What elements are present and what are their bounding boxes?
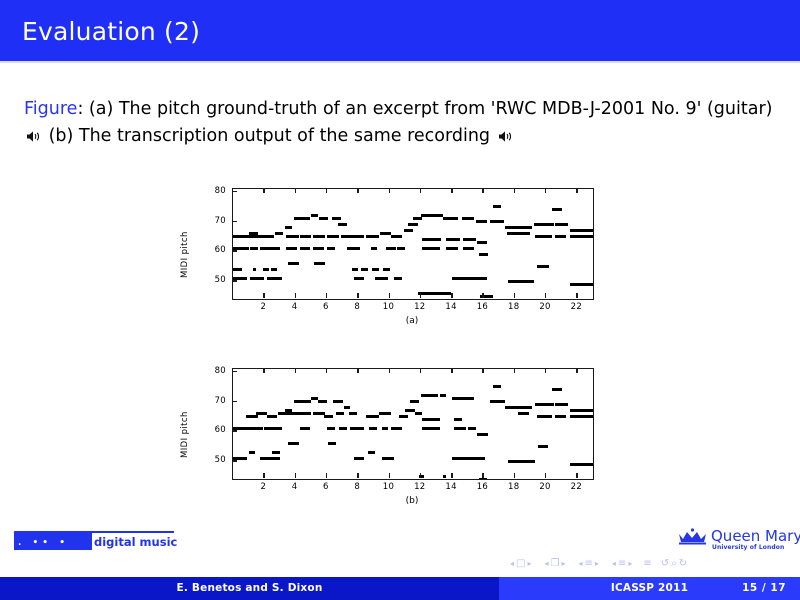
x-tick-mark-top <box>514 188 515 193</box>
note-bar <box>466 397 474 400</box>
y-tick-label: 60 <box>204 425 226 435</box>
note-bar <box>233 268 242 271</box>
note-bar <box>524 460 535 463</box>
note-bar <box>386 247 395 250</box>
footer-page-number: 15 / 17 <box>742 582 786 594</box>
note-bar <box>349 412 357 415</box>
x-tick-mark-top <box>545 188 546 193</box>
queen-mary-logo: Queen Mary University of London <box>675 527 790 555</box>
note-bar <box>570 235 593 238</box>
x-tick-label: 12 <box>410 482 430 492</box>
x-tick-label: 2 <box>253 302 273 312</box>
x-tick-label: 22 <box>566 482 586 492</box>
crown-icon <box>677 528 709 549</box>
x-tick-mark-top <box>326 368 327 373</box>
x-tick-label: 8 <box>347 302 367 312</box>
note-bar <box>383 268 389 271</box>
x-tick-mark-top <box>295 368 296 373</box>
note-bar <box>443 217 459 220</box>
x-tick-label: 18 <box>504 302 524 312</box>
note-bar <box>352 268 358 271</box>
note-bar <box>369 427 377 430</box>
nav-group-back-find-forward[interactable]: ↺ ⌕ ↻ <box>661 559 687 569</box>
x-tick-mark <box>545 473 546 478</box>
frame-stack-icon[interactable]: ❐ <box>551 559 560 569</box>
note-bar <box>371 247 377 250</box>
note-bar <box>508 280 533 283</box>
note-bar <box>354 457 365 460</box>
x-tick-mark-top <box>576 368 577 373</box>
note-bar <box>286 235 299 238</box>
x-tick-mark-top <box>357 368 358 373</box>
x-tick-mark-top <box>451 368 452 373</box>
note-bar <box>350 427 364 430</box>
note-bar <box>250 277 264 280</box>
note-bar <box>490 220 504 223</box>
x-tick-mark-top <box>545 368 546 373</box>
note-bar <box>313 235 326 238</box>
x-tick-mark-top <box>357 188 358 193</box>
note-bar <box>555 235 566 238</box>
x-tick-mark <box>576 293 577 298</box>
x-tick-mark <box>263 293 264 298</box>
section-lines-icon[interactable]: ≡ <box>618 559 626 569</box>
chevron-left-icon[interactable]: ◂ <box>610 560 618 568</box>
note-bar <box>267 277 281 280</box>
x-tick-label: 14 <box>441 302 461 312</box>
note-bar <box>508 460 524 463</box>
note-bar <box>493 205 501 208</box>
x-tick-mark <box>326 473 327 478</box>
x-tick-label: 16 <box>472 482 492 492</box>
note-bar <box>421 214 443 217</box>
y-tick-label: 70 <box>204 216 226 226</box>
caption-part-a: (a) The pitch ground-truth of an excerpt… <box>83 99 772 119</box>
note-bar <box>288 262 299 265</box>
x-tick-mark-top <box>482 368 483 373</box>
note-bar <box>570 283 593 286</box>
back-arrow-icon[interactable]: ↺ <box>661 559 669 569</box>
note-bar <box>476 220 487 223</box>
note-bar <box>263 268 269 271</box>
piano-roll-panel-b: MIDI pitch 50607080 246810121416182022 (… <box>180 360 630 525</box>
x-tick-mark <box>295 293 296 298</box>
note-bar <box>264 427 281 430</box>
x-tick-mark <box>482 293 483 298</box>
note-bar <box>422 247 439 250</box>
y-tick-label: 50 <box>204 275 226 285</box>
x-tick-mark <box>389 293 390 298</box>
note-bar <box>347 247 360 250</box>
chevron-left-icon[interactable]: ◂ <box>508 560 516 568</box>
y-tick-label: 70 <box>204 396 226 406</box>
nav-group-slide[interactable]: ◂ □ ▸ <box>508 559 533 569</box>
note-bar <box>256 412 267 415</box>
x-tick-mark-top <box>326 188 327 193</box>
figure-block: MIDI pitch 50607080 246810121416182022 (… <box>180 180 630 525</box>
x-tick-mark <box>263 473 264 478</box>
note-bar <box>507 232 530 235</box>
y-tick-mark <box>232 250 237 251</box>
y-axis-label-a: MIDI pitch <box>180 208 194 278</box>
note-bar <box>324 415 333 418</box>
footer-authors: E. Benetos and S. Dixon <box>0 582 499 594</box>
note-bar <box>341 235 349 238</box>
note-bar <box>422 418 439 421</box>
note-bar <box>332 217 341 220</box>
x-tick-mark <box>357 473 358 478</box>
note-bar <box>327 427 335 430</box>
note-bar <box>418 292 451 295</box>
note-bar <box>233 235 274 238</box>
note-bar <box>366 415 379 418</box>
x-tick-mark-top <box>576 188 577 193</box>
footer-authors-cell: E. Benetos and S. Dixon <box>0 577 499 600</box>
search-icon[interactable]: ⌕ <box>671 559 677 569</box>
subcaption-b: (b) <box>232 496 592 506</box>
y-tick-mark <box>232 280 237 281</box>
chevron-right-icon[interactable]: ▸ <box>626 560 634 568</box>
note-bar <box>404 229 413 232</box>
note-bar <box>490 400 506 403</box>
note-bar <box>368 451 376 454</box>
note-bar <box>299 412 312 415</box>
note-bar <box>275 232 283 235</box>
x-tick-label: 4 <box>285 482 305 492</box>
y-tick-label: 60 <box>204 245 226 255</box>
note-bar <box>463 247 474 250</box>
x-tick-label: 10 <box>379 302 399 312</box>
beamer-navigation-symbols[interactable]: ◂ □ ▸ ◂ ❐ ▸ ◂ ≡ ▸ ◂ ≡ ▸ ≡ ↺ ⌕ ↻ <box>508 557 696 571</box>
x-tick-label: 4 <box>285 302 305 312</box>
note-bar <box>440 394 446 397</box>
note-bar <box>300 235 311 238</box>
chevron-right-icon[interactable]: ▸ <box>593 560 601 568</box>
x-tick-mark-top <box>389 188 390 193</box>
slide-square-icon[interactable]: □ <box>516 559 525 569</box>
note-bar <box>339 427 347 430</box>
note-bar <box>333 400 342 403</box>
note-bar <box>518 412 529 415</box>
note-bar <box>300 247 309 250</box>
x-tick-label: 22 <box>566 302 586 312</box>
note-bar <box>555 223 568 226</box>
speaker-icon[interactable] <box>498 130 513 143</box>
note-bar <box>382 457 395 460</box>
note-bar <box>300 427 309 430</box>
note-bar <box>454 418 462 421</box>
note-bar <box>338 223 347 226</box>
note-bar <box>505 226 532 229</box>
note-bar <box>391 235 402 238</box>
note-bar <box>462 217 475 220</box>
note-bar <box>258 427 263 430</box>
x-tick-label: 8 <box>347 482 367 492</box>
y-tick-label: 50 <box>204 455 226 465</box>
note-bar <box>319 217 328 220</box>
note-bar <box>537 415 553 418</box>
nav-group-section[interactable]: ◂ ≡ ▸ <box>610 559 634 569</box>
plot-area-a <box>232 188 594 300</box>
note-bar <box>267 415 276 418</box>
subsection-lines-icon[interactable]: ≡ <box>585 559 593 569</box>
x-tick-label: 20 <box>535 302 555 312</box>
note-bar <box>446 238 460 241</box>
footer-venue-cell: ICASSP 2011 15 / 17 <box>499 577 800 600</box>
note-bar <box>399 415 408 418</box>
x-tick-mark <box>576 473 577 478</box>
c4dm-logo-text: digital music <box>94 535 177 549</box>
note-bar <box>311 214 317 217</box>
note-bar <box>271 268 277 271</box>
x-tick-label: 6 <box>316 302 336 312</box>
note-bar <box>313 247 324 250</box>
note-bar <box>328 442 336 445</box>
chevron-left-icon[interactable]: ◂ <box>542 560 550 568</box>
x-tick-mark-top <box>482 188 483 193</box>
y-tick-label: 80 <box>204 186 226 196</box>
chevron-right-icon[interactable]: ▸ <box>559 560 567 568</box>
x-tick-mark-top <box>263 188 264 193</box>
note-bar <box>452 457 485 460</box>
x-tick-mark <box>482 473 483 478</box>
figure-caption: Figure: (a) The pitch ground-truth of an… <box>24 96 776 150</box>
y-tick-mark <box>232 371 237 372</box>
note-bar <box>454 427 467 430</box>
note-bar <box>410 400 419 403</box>
queen-mary-subtitle: University of London <box>712 544 784 551</box>
note-bar <box>534 223 554 226</box>
note-bar <box>361 268 367 271</box>
y-tick-label: 80 <box>204 366 226 376</box>
y-tick-mark <box>232 430 237 431</box>
note-bar <box>246 415 259 418</box>
x-tick-mark <box>451 473 452 478</box>
note-bar <box>327 247 335 250</box>
note-bar <box>479 253 488 256</box>
note-bar <box>552 388 561 391</box>
note-bar <box>537 265 550 268</box>
note-bar <box>253 268 256 271</box>
note-bar <box>260 247 280 250</box>
note-bar <box>260 457 280 460</box>
note-bar <box>366 235 379 238</box>
document-icon[interactable]: ≡ <box>643 559 651 569</box>
x-tick-mark <box>420 473 421 478</box>
x-tick-label: 6 <box>316 482 336 492</box>
x-tick-label: 14 <box>441 482 461 492</box>
note-bar <box>397 247 405 250</box>
x-tick-label: 10 <box>379 482 399 492</box>
x-tick-mark <box>326 293 327 298</box>
chevron-left-icon[interactable]: ◂ <box>576 560 584 568</box>
note-bar <box>394 277 402 280</box>
note-bar <box>314 262 325 265</box>
note-bar <box>552 208 561 211</box>
note-bar <box>443 475 446 478</box>
title-underline-rule <box>0 61 800 63</box>
note-bar <box>249 232 258 235</box>
note-bar <box>344 406 350 409</box>
caption-part-b: (b) The transcription output of the same… <box>43 126 496 146</box>
y-tick-mark <box>232 221 237 222</box>
note-bar <box>249 451 255 454</box>
note-bar <box>336 412 344 415</box>
note-bar <box>422 238 441 241</box>
note-bar <box>294 400 311 403</box>
note-bar <box>408 223 417 226</box>
x-tick-mark <box>514 473 515 478</box>
note-bar <box>349 235 365 238</box>
note-bar <box>415 412 423 415</box>
x-tick-mark <box>357 293 358 298</box>
note-bar <box>452 277 486 280</box>
nav-group-document[interactable]: ≡ <box>643 559 651 569</box>
x-tick-mark <box>545 293 546 298</box>
note-bar <box>288 442 299 445</box>
note-bar <box>382 427 388 430</box>
note-bar <box>380 232 391 235</box>
note-bar <box>493 385 501 388</box>
note-bar <box>372 268 378 271</box>
note-bar <box>391 427 402 430</box>
note-bar <box>250 247 258 250</box>
note-bar <box>555 403 568 406</box>
x-tick-mark-top <box>514 368 515 373</box>
y-tick-mark <box>232 460 237 461</box>
x-tick-label: 16 <box>472 302 492 312</box>
note-bar <box>405 409 414 412</box>
note-bar <box>272 451 280 454</box>
note-bar <box>535 235 552 238</box>
plot-area-b <box>232 368 594 480</box>
y-tick-mark <box>232 401 237 402</box>
x-tick-mark-top <box>295 188 296 193</box>
note-bar <box>463 238 476 241</box>
note-bar <box>294 217 310 220</box>
caption-figure-label: Figure <box>24 99 77 119</box>
x-tick-mark-top <box>420 188 421 193</box>
queen-mary-name: Queen Mary <box>711 527 800 545</box>
note-bar <box>570 415 593 418</box>
speaker-icon[interactable] <box>26 130 41 143</box>
c4dm-logo-dots: . •• • <box>18 538 69 548</box>
note-bar <box>570 409 593 412</box>
note-bar <box>538 445 547 448</box>
chevron-right-icon[interactable]: ▸ <box>525 560 533 568</box>
note-bar <box>477 241 486 244</box>
subcaption-a: (a) <box>232 316 592 326</box>
slide-footer: E. Benetos and S. Dixon ICASSP 2011 15 /… <box>0 577 800 600</box>
x-tick-mark-top <box>389 368 390 373</box>
y-tick-mark <box>232 191 237 192</box>
x-tick-mark-top <box>420 368 421 373</box>
forward-arrow-icon[interactable]: ↻ <box>679 559 687 569</box>
note-bar <box>278 412 286 415</box>
slide-title-bar: Evaluation (2) <box>0 0 800 61</box>
note-bar <box>285 226 293 229</box>
note-bar <box>318 400 327 403</box>
page-title: Evaluation (2) <box>22 17 200 46</box>
note-bar <box>535 403 554 406</box>
note-bar <box>421 394 438 397</box>
note-bar <box>379 412 392 415</box>
note-bar <box>422 427 439 430</box>
note-bar <box>570 463 593 466</box>
note-bar <box>413 217 422 220</box>
c4dm-logo: . •• • digital music <box>14 531 172 553</box>
x-tick-label: 2 <box>253 482 273 492</box>
x-tick-label: 12 <box>410 302 430 312</box>
x-tick-mark <box>389 473 390 478</box>
x-tick-label: 20 <box>535 482 555 492</box>
x-tick-mark <box>420 293 421 298</box>
x-tick-mark <box>451 293 452 298</box>
x-tick-mark <box>514 293 515 298</box>
note-bar <box>354 277 365 280</box>
note-bar <box>505 406 532 409</box>
note-bar <box>570 229 593 232</box>
piano-roll-panel-a: MIDI pitch 50607080 246810121416182022 (… <box>180 180 630 345</box>
note-bar <box>468 427 476 430</box>
nav-group-subsection[interactable]: ◂ ≡ ▸ <box>576 559 600 569</box>
x-tick-mark-top <box>263 368 264 373</box>
note-bar <box>327 235 340 238</box>
note-bar <box>286 247 297 250</box>
x-tick-label: 18 <box>504 482 524 492</box>
note-bar <box>375 277 388 280</box>
x-tick-mark <box>295 473 296 478</box>
nav-group-frame[interactable]: ◂ ❐ ▸ <box>542 559 567 569</box>
note-bar <box>477 433 488 436</box>
note-bar <box>555 415 566 418</box>
note-bar <box>446 247 459 250</box>
x-tick-mark-top <box>451 188 452 193</box>
y-axis-label-b: MIDI pitch <box>180 388 194 458</box>
